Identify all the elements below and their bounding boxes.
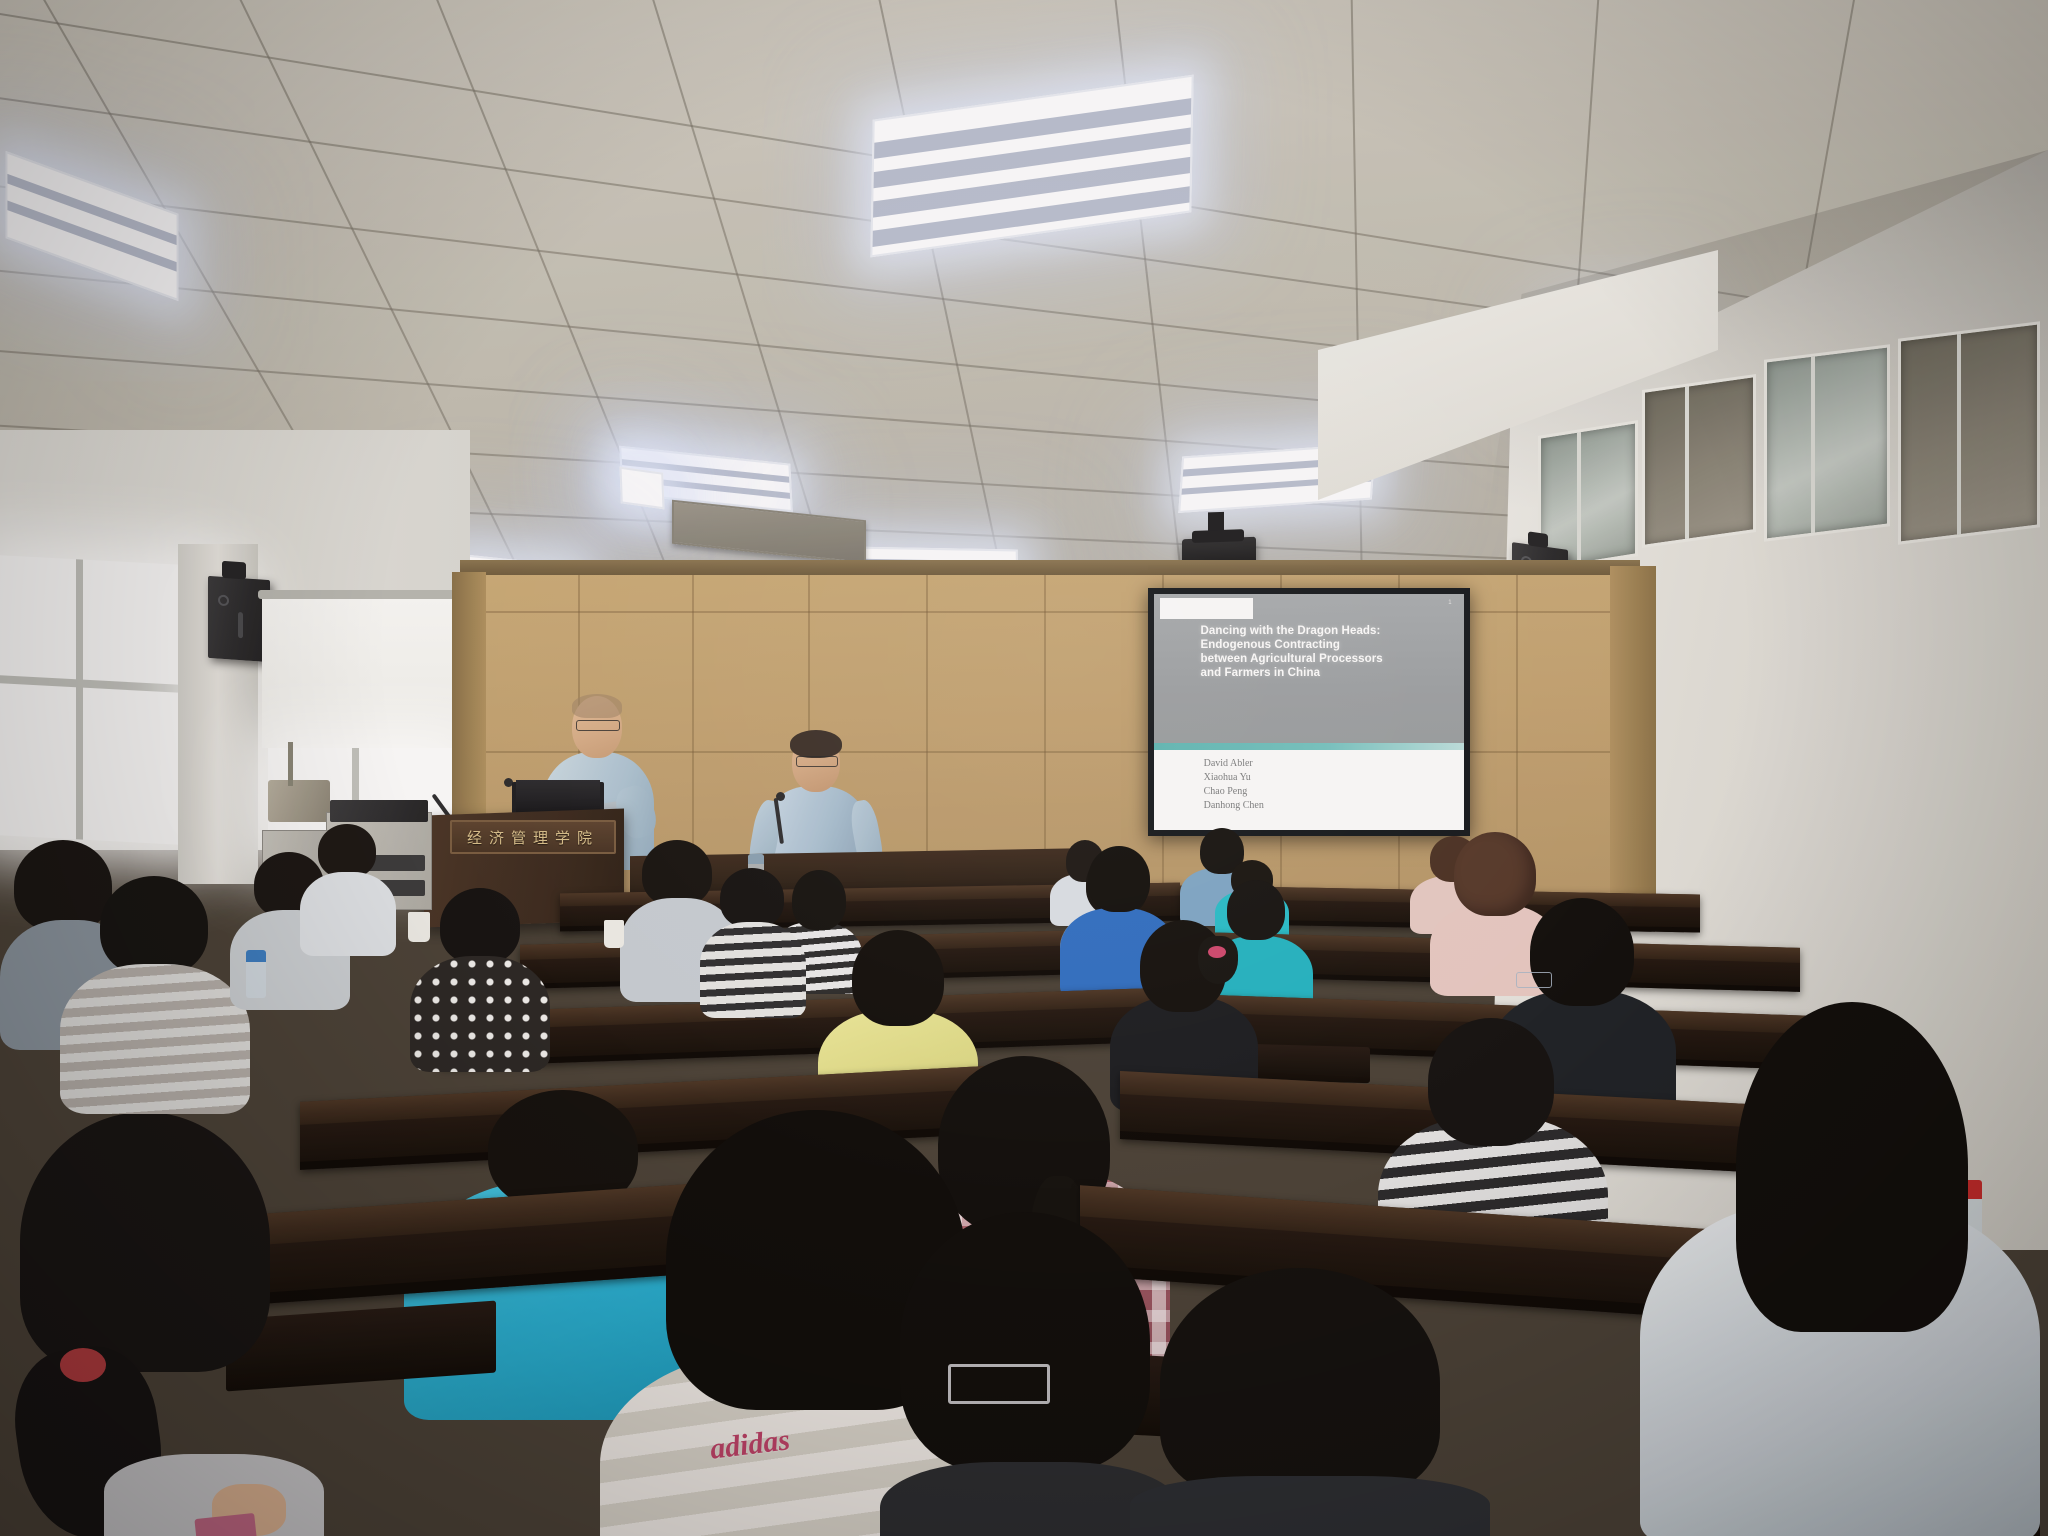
desk-microphone-head bbox=[776, 792, 785, 801]
slide-author-3: Chao Peng bbox=[1204, 785, 1264, 799]
slide-accent-rule bbox=[1154, 743, 1464, 751]
window-roller-blind[interactable] bbox=[262, 596, 458, 748]
slide-page-number: 1 bbox=[1448, 600, 1451, 606]
white-top-attendee-hair bbox=[1736, 1002, 1968, 1332]
lectern-nameplate: 经济管理学院 bbox=[450, 820, 616, 854]
attendee-left-foreground bbox=[1130, 1268, 1490, 1536]
clerestory-window bbox=[1898, 321, 2040, 544]
attendee-ponytail-phone bbox=[0, 1112, 320, 1536]
blind-roller[interactable] bbox=[258, 590, 464, 599]
ceiling-light-panel bbox=[620, 467, 665, 510]
attendee-left-row bbox=[300, 824, 396, 948]
slide-title-line-1: Dancing with the Dragon Heads: bbox=[1201, 624, 1452, 638]
hair-tie bbox=[60, 1348, 106, 1382]
paper-cup bbox=[604, 920, 624, 948]
slide-title: Dancing with the Dragon Heads: Endogenou… bbox=[1201, 624, 1452, 680]
clerestory-window bbox=[1764, 344, 1890, 541]
left-window bbox=[0, 555, 190, 845]
presenter-podium-glasses bbox=[576, 720, 620, 731]
slide-title-line-3: between Agricultural Processors bbox=[1201, 652, 1452, 666]
projection-screen: 1 Dancing with the Dragon Heads: Endogen… bbox=[1154, 594, 1464, 830]
slide-title-line-2: Endogenous Contracting bbox=[1201, 638, 1452, 652]
slide-author-area: David Abler Xiaohua Yu Chao Peng Danhong… bbox=[1154, 750, 1464, 830]
slide-author-list: David Abler Xiaohua Yu Chao Peng Danhong… bbox=[1204, 757, 1264, 814]
lab-equipment bbox=[268, 780, 330, 822]
lab-equipment-stand bbox=[288, 742, 293, 786]
attendee-left-polka bbox=[410, 888, 550, 1064]
presenter-podium-hair bbox=[572, 694, 622, 718]
projection-screen-frame: 1 Dancing with the Dragon Heads: Endogen… bbox=[1148, 588, 1470, 836]
left-wall-speaker bbox=[208, 576, 270, 662]
wood-wall-cornice bbox=[460, 560, 1640, 576]
attendee-white-top bbox=[1640, 1002, 2040, 1536]
slide-white-placeholder bbox=[1160, 598, 1253, 619]
slide-author-4: Danhong Chen bbox=[1204, 799, 1264, 813]
slide-author-1: David Abler bbox=[1204, 757, 1264, 771]
slide-author-2: Xiaohua Yu bbox=[1204, 771, 1264, 785]
slide-title-band: 1 Dancing with the Dragon Heads: Endogen… bbox=[1154, 594, 1464, 743]
water-bottle bbox=[246, 950, 266, 998]
desk-row bbox=[440, 987, 1180, 1067]
av-equipment-rack bbox=[330, 800, 428, 822]
lecture-hall-photo: 1 Dancing with the Dragon Heads: Endogen… bbox=[0, 0, 2048, 1536]
hair-bun bbox=[1198, 936, 1238, 984]
attendee-glasses bbox=[1516, 972, 1552, 988]
attendee-glasses bbox=[948, 1364, 1050, 1404]
ponytail-attendee-hair bbox=[20, 1112, 270, 1372]
attendee-left-mid bbox=[60, 876, 250, 1106]
paper-cup bbox=[408, 912, 430, 942]
wood-wall-right-return bbox=[1610, 566, 1656, 896]
presenter-standing-hair bbox=[790, 730, 842, 758]
attendee-mid-left bbox=[700, 868, 806, 1008]
slide-title-line-4: and Farmers in China bbox=[1201, 666, 1452, 680]
lectern-nameplate-text: 经济管理学院 bbox=[467, 827, 599, 848]
presenter-standing-glasses bbox=[796, 756, 838, 767]
hair-tie bbox=[1208, 946, 1226, 958]
clerestory-window bbox=[1642, 374, 1756, 548]
